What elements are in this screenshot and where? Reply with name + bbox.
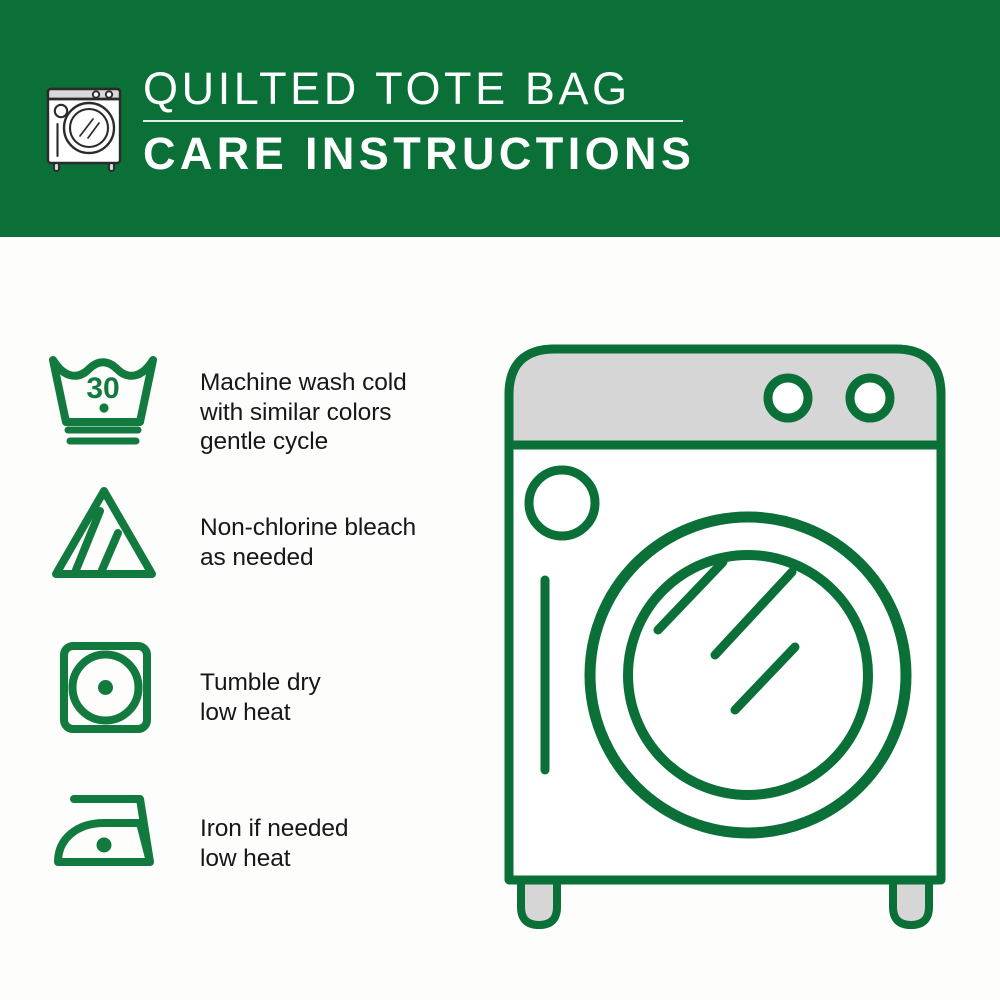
header-band: QUILTED TOTE BAG CARE INSTRUCTIONS (0, 0, 1000, 237)
care-item-text-iron: Iron if needed low heat (200, 814, 348, 873)
tumble-dry-low-icon (58, 640, 153, 740)
bleach-triangle-icon (50, 485, 158, 585)
header-title-block: QUILTED TOTE BAG CARE INSTRUCTIONS (143, 66, 743, 176)
care-item-text-bleach: Non-chlorine bleach as needed (200, 513, 416, 572)
wash-temp-label: 30 (86, 372, 119, 405)
washing-machine-icon (42, 68, 130, 172)
care-instruction-list: 30 Machine wash cold with similar colors… (0, 237, 500, 1000)
page-subtitle: CARE INSTRUCTIONS (143, 131, 743, 176)
care-instructions-page: QUILTED TOTE BAG CARE INSTRUCTIONS 30 (0, 0, 1000, 1000)
care-item-text-tumble-dry: Tumble dry low heat (200, 668, 321, 727)
front-load-washing-machine-illustration (495, 335, 975, 940)
wash-tub-30-icon: 30 (48, 350, 158, 450)
dial-left (768, 378, 808, 418)
care-item-text-machine-wash: Machine wash cold with similar colors ge… (200, 368, 407, 457)
door-inner-ring (628, 555, 868, 795)
title-divider (143, 120, 683, 122)
page-title: QUILTED TOTE BAG (143, 66, 743, 111)
dial-right (850, 378, 890, 418)
indicator-button (529, 470, 595, 536)
iron-low-heat-icon (52, 790, 162, 875)
